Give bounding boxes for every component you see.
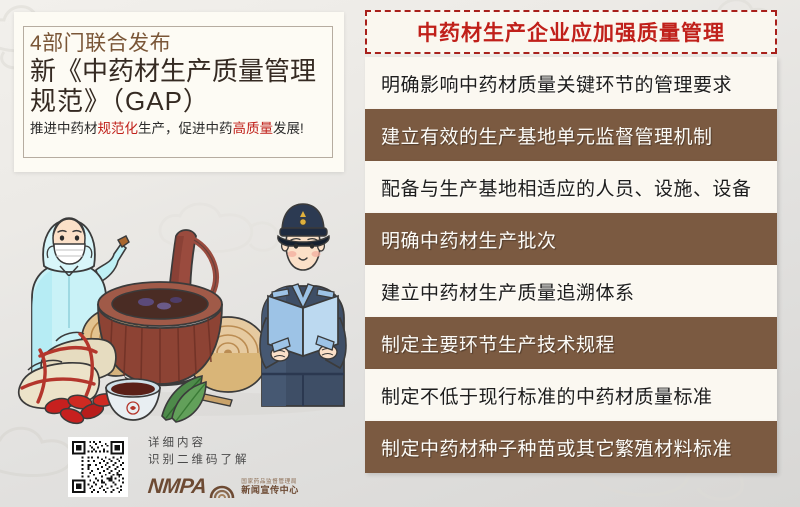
subtitle-part-2: 生产，促进中药 xyxy=(138,121,233,136)
poster-footer: 详细内容 识别二维码了解 NMPA 国家药品监督管理局 新闻宣传中心 xyxy=(0,427,360,507)
checklist-item: 建立有效的生产基地单元监督管理机制 xyxy=(365,109,777,161)
qr-instruction-line-2: 识别二维码了解 xyxy=(148,452,250,469)
checklist-item: 制定中药材种子种苗或其它繁殖材料标准 xyxy=(365,421,777,473)
checklist-item-label: 制定主要环节生产技术规程 xyxy=(381,330,615,357)
checklist-item-label: 建立中药材生产质量追溯体系 xyxy=(381,278,635,305)
qr-instruction-line-1: 详细内容 xyxy=(148,435,250,452)
checklist-header: 中药材生产企业应加强质量管理 xyxy=(365,10,777,54)
checklist-item-label: 明确中药材生产批次 xyxy=(381,226,557,253)
title-card: 4部门联合发布 新《中药材生产质量管理 规范》（GAP） 推进中药材规范化生产，… xyxy=(14,12,344,172)
checklist-item-label: 明确影响中药材质量关键环节的管理要求 xyxy=(381,70,732,97)
nmpa-logo: NMPA 国家药品监督管理局 新闻宣传中心 xyxy=(148,473,299,501)
checklist-item: 配备与生产基地相适应的人员、设施、设备 xyxy=(365,161,777,213)
qr-code[interactable] xyxy=(68,437,128,497)
subtitle-part-0: 推进中药材 xyxy=(30,121,98,136)
subtitle-part-1: 规范化 xyxy=(98,121,139,136)
checklist-item-label: 制定中药材种子种苗或其它繁殖材料标准 xyxy=(381,434,732,461)
title-card-inner-border: 4部门联合发布 新《中药材生产质量管理 规范》（GAP） 推进中药材规范化生产，… xyxy=(23,26,333,158)
herbal-medicine-illustration xyxy=(0,178,360,428)
nmpa-wordmark: NMPA xyxy=(147,475,208,499)
checklist-item-label: 配备与生产基地相适应的人员、设施、设备 xyxy=(381,174,752,201)
title-line-3: 规范》（GAP） xyxy=(30,86,326,116)
checklist-item-label: 建立有效的生产基地单元监督管理机制 xyxy=(381,122,713,149)
checklist-panel: 中药材生产企业应加强质量管理 明确影响中药材质量关键环节的管理要求建立有效的生产… xyxy=(365,10,777,473)
nmpa-chinese-name: 国家药品监督管理局 新闻宣传中心 xyxy=(241,479,299,496)
subtitle-part-4: 发展! xyxy=(273,121,304,136)
nmpa-arch-icon xyxy=(209,475,235,499)
checklist-header-text: 中药材生产企业应加强质量管理 xyxy=(417,17,725,47)
title-line-1: 4部门联合发布 xyxy=(30,31,326,56)
subtitle-part-3: 高质量 xyxy=(233,121,274,136)
checklist-item: 明确影响中药材质量关键环节的管理要求 xyxy=(365,57,777,109)
inspector-figure xyxy=(260,204,346,406)
infographic-poster: 4部门联合发布 新《中药材生产质量管理 规范》（GAP） 推进中药材规范化生产，… xyxy=(0,0,800,507)
title-line-2: 新《中药材生产质量管理 xyxy=(30,56,326,86)
checklist-rows: 明确影响中药材质量关键环节的管理要求建立有效的生产基地单元监督管理机制配备与生产… xyxy=(365,57,777,473)
nmpa-cn-bottom: 新闻宣传中心 xyxy=(241,485,299,495)
checklist-item: 建立中药材生产质量追溯体系 xyxy=(365,265,777,317)
checklist-item: 制定主要环节生产技术规程 xyxy=(365,317,777,369)
checklist-item-label: 制定不低于现行标准的中药材质量标准 xyxy=(381,382,713,409)
qr-instruction-text: 详细内容 识别二维码了解 xyxy=(148,435,250,469)
title-subtitle: 推进中药材规范化生产，促进中药高质量发展! xyxy=(30,120,326,137)
checklist-item: 制定不低于现行标准的中药材质量标准 xyxy=(365,369,777,421)
left-column: 4部门联合发布 新《中药材生产质量管理 规范》（GAP） 推进中药材规范化生产，… xyxy=(0,0,360,507)
checklist-item: 明确中药材生产批次 xyxy=(365,213,777,265)
